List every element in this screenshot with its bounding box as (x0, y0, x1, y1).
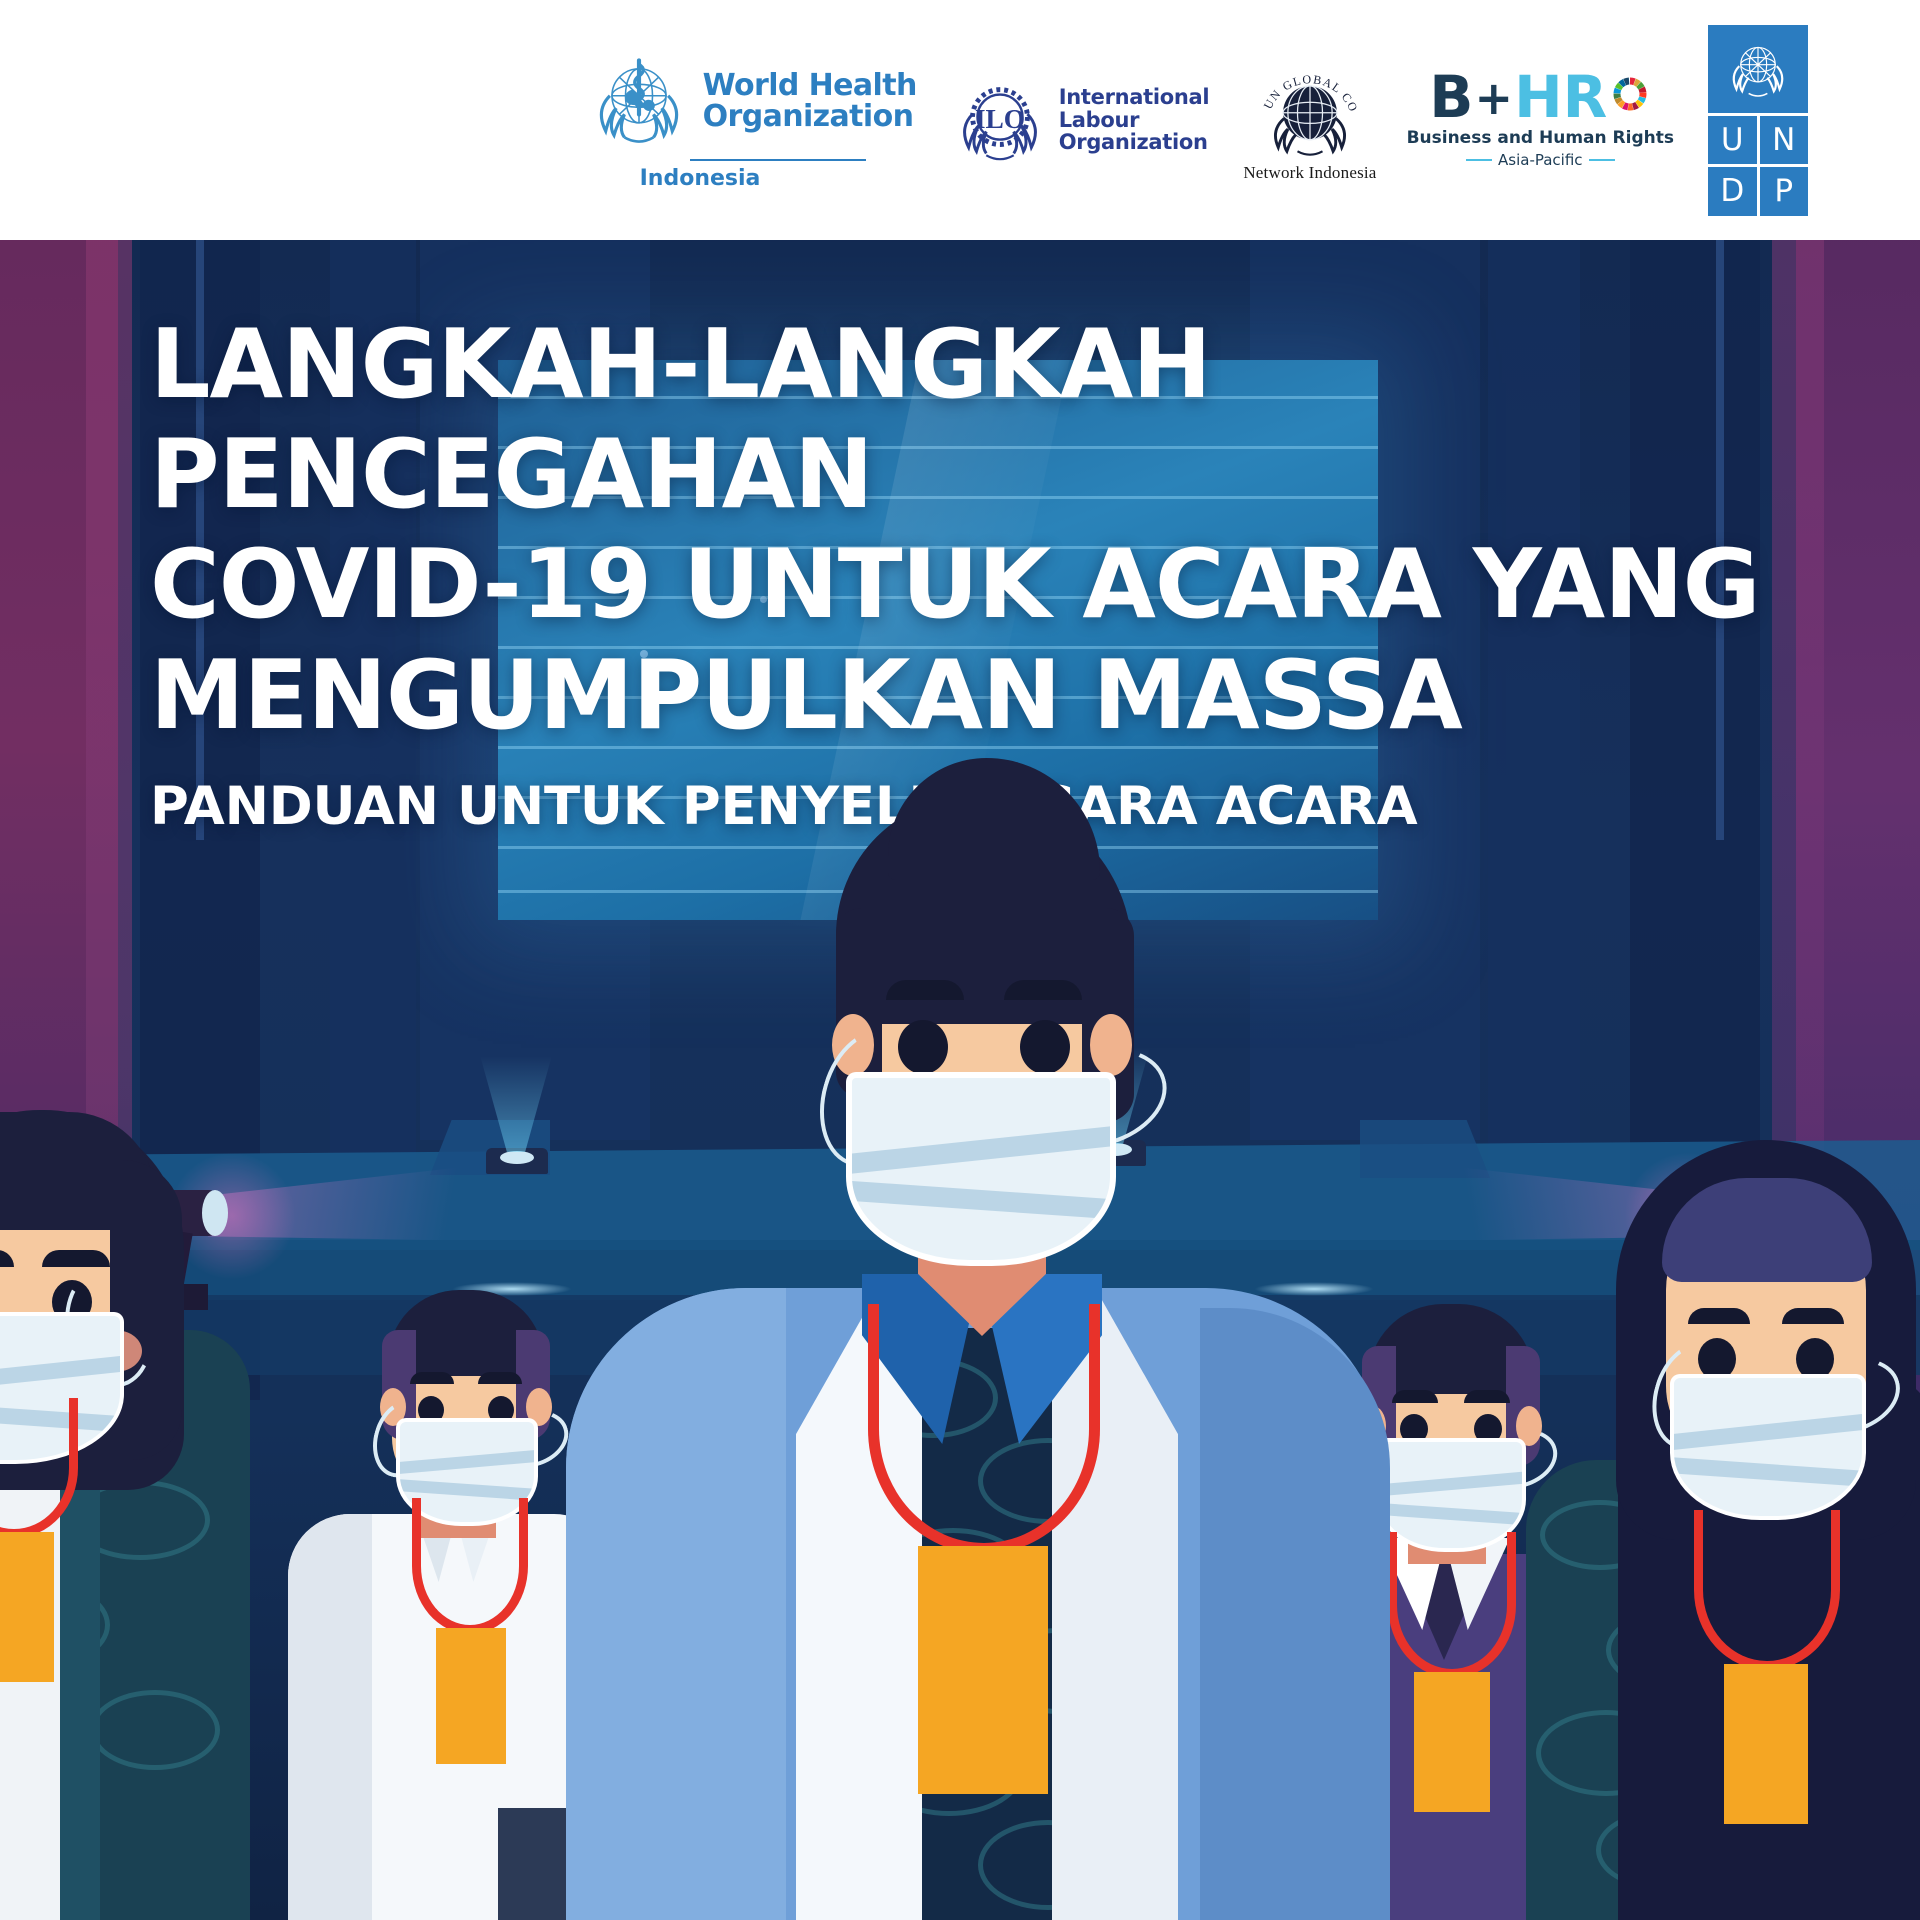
bhr-hr-letters: HR (1514, 71, 1607, 124)
man-purple-vest-brow-left (1392, 1390, 1438, 1403)
bhr-plus-sign: + (1475, 71, 1514, 126)
who-line1: World Health (703, 71, 917, 101)
woman-hijab-brow-right (1782, 1308, 1844, 1324)
undp-letter-n: N (1760, 116, 1809, 165)
woman-hijab-badge (1724, 1664, 1808, 1824)
doctor-brow-right (1004, 980, 1082, 1000)
man-white-shirt-shoulder-shade (288, 1514, 372, 1920)
figure-woman-left (0, 860, 290, 1920)
man-purple-vest-badge (1414, 1672, 1490, 1812)
ilo-line3: Organization (1059, 131, 1210, 153)
woman-hijab-lanyard (1694, 1510, 1840, 1670)
undp-letter-p: P (1760, 167, 1809, 216)
ilo-line2: Labour (1059, 109, 1210, 131)
who-country-label: Indonesia (640, 166, 761, 191)
woman-left-brow-right (42, 1250, 110, 1267)
doctor-lanyard (868, 1304, 1100, 1554)
undp-logo: U N D P (1708, 25, 1808, 216)
sdg-wheel-icon (1609, 73, 1651, 115)
man-purple-vest-lanyard (1388, 1532, 1516, 1678)
partner-logo-bar: World Health Organization Indonesia ILO … (0, 0, 1920, 240)
illustration-people (0, 240, 1920, 1920)
svg-text:ILO: ILO (975, 104, 1025, 134)
man-white-shirt-brow-right (478, 1372, 522, 1384)
who-logo: World Health Organization Indonesia (587, 50, 917, 191)
undp-letter-u: U (1708, 116, 1757, 165)
doctor-blazer-left-highlight (566, 1288, 786, 1920)
man-white-shirt-badge (436, 1628, 506, 1764)
undp-letter-d: D (1708, 167, 1757, 216)
bhr-dash-left (1466, 159, 1492, 161)
doctor-hair-quiff (888, 758, 1100, 880)
ungc-network-label: Network Indonesia (1243, 163, 1376, 183)
ilo-emblem-icon: ILO (951, 71, 1049, 169)
figure-doctor-center (600, 628, 1360, 1920)
un-emblem-icon (1708, 25, 1808, 113)
bhr-dash-right (1589, 159, 1615, 161)
ilo-logo: ILO International Labour Organization (951, 71, 1210, 169)
ungc-globe-icon: UN GLOBAL COMPACT (1257, 57, 1363, 159)
ilo-line1: International (1059, 86, 1210, 108)
who-emblem-icon (587, 50, 691, 154)
man-white-shirt-lanyard (412, 1498, 528, 1634)
who-divider (690, 159, 866, 161)
who-line2: Organization (703, 102, 917, 132)
doctor-brow-left (886, 980, 964, 1000)
man-white-shirt-brow-left (410, 1372, 454, 1384)
man-purple-vest-brow-right (1464, 1390, 1510, 1403)
poster-page: World Health Organization Indonesia ILO … (0, 0, 1920, 1920)
doctor-face-mask (846, 1072, 1116, 1266)
woman-hijab-face-mask (1670, 1374, 1866, 1520)
bhr-b-letter: B (1429, 71, 1473, 124)
figure-woman-hijab-right (1558, 900, 1920, 1920)
bhr-logo: B + HR (1407, 71, 1674, 169)
doctor-blazer-right-shade (1200, 1308, 1390, 1920)
woman-left-badge (0, 1532, 54, 1682)
bhr-subtitle: Business and Human Rights (1407, 128, 1674, 148)
woman-hijab-brow-left (1688, 1308, 1750, 1324)
un-global-compact-logo: UN GLOBAL COMPACT Network Indonesia (1243, 57, 1376, 183)
bhr-region-label: Asia-Pacific (1498, 151, 1583, 169)
doctor-badge (918, 1546, 1048, 1794)
